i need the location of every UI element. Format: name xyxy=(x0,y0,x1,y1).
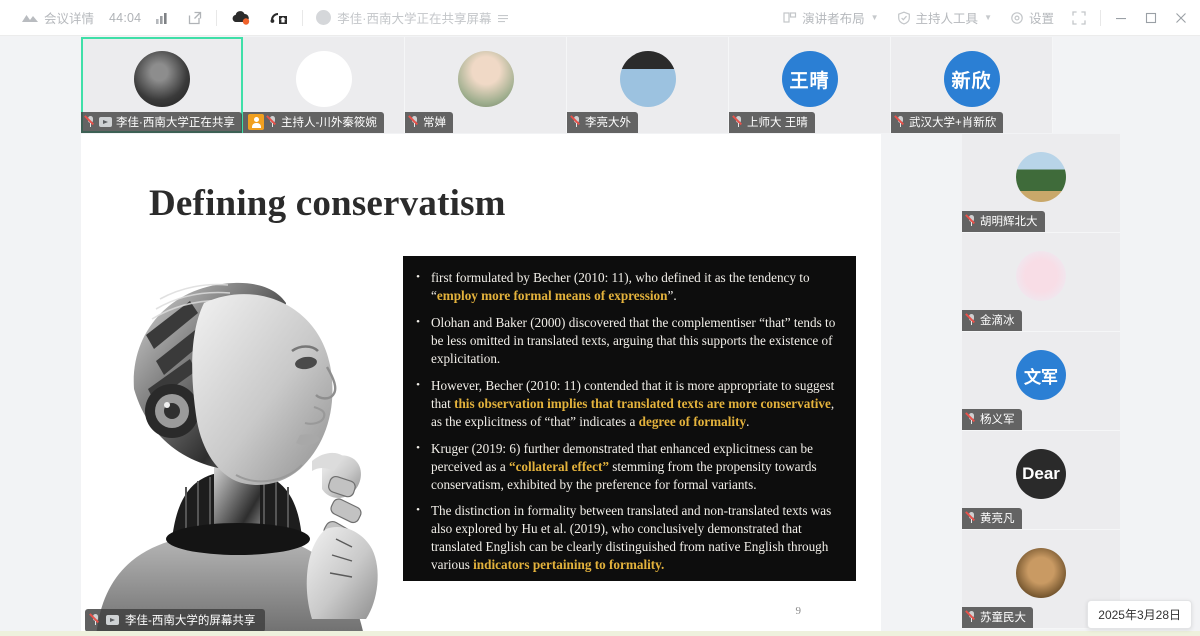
participant-sidebar[interactable]: 胡明辉北大金滴冰文军杨义军Dear黄亮凡苏童民大 xyxy=(962,134,1120,636)
settings-label: 设置 xyxy=(1029,8,1054,27)
bullet-text: However, Becher (2010: 11) contended tha… xyxy=(431,377,842,431)
meeting-window: 会议详情 44:04 xyxy=(0,0,1200,636)
bullet-text: first formulated by Becher (2010: 11), w… xyxy=(431,269,842,305)
participant-name-bar: 黄亮凡 xyxy=(962,508,1022,529)
avatar xyxy=(1016,251,1066,301)
divider xyxy=(216,10,217,26)
screen-share-label-bar: 李佳-西南大学的屏幕共享 xyxy=(85,609,265,632)
microphone-muted-icon xyxy=(967,512,976,524)
microphone-muted-icon xyxy=(734,116,743,128)
highlighted-text: this observation implies that translated… xyxy=(454,396,831,411)
avatar: 新欣 xyxy=(944,51,1000,107)
microphone-muted-icon xyxy=(410,116,419,128)
host-badge-icon xyxy=(248,114,264,130)
network-signal-button[interactable] xyxy=(147,5,179,31)
participant-name-bar: 李亮大外 xyxy=(567,112,638,133)
avatar xyxy=(1016,152,1066,202)
date-tooltip: 2025年3月28日 xyxy=(1087,600,1192,629)
participant-name-bar: 胡明辉北大 xyxy=(962,211,1045,232)
bullet-marker-icon: • xyxy=(413,269,423,305)
bullet-marker-icon: • xyxy=(413,502,423,574)
bullet-text: The distinction in formality between tra… xyxy=(431,502,842,574)
participant-tile[interactable]: Dear黄亮凡 xyxy=(962,431,1120,530)
top-bar: 会议详情 44:04 xyxy=(0,0,1200,36)
avatar xyxy=(296,51,352,107)
chevron-down-icon: ▼ xyxy=(984,13,992,22)
participant-name-bar: 苏童民大 xyxy=(962,607,1033,628)
participant-thumbnail[interactable]: 王晴上师大 王晴 xyxy=(729,37,891,133)
meeting-details-label: 会议详情 xyxy=(44,8,94,27)
audio-shield-icon xyxy=(269,10,288,25)
avatar: 王晴 xyxy=(782,51,838,107)
microphone-muted-icon xyxy=(572,116,581,128)
bullet-item: •Kruger (2019: 6) further demonstrated t… xyxy=(413,440,842,494)
presentation-slide: Defining conservatism xyxy=(81,134,881,636)
popout-window-button[interactable] xyxy=(179,5,211,31)
avatar: Dear xyxy=(1016,449,1066,499)
bullet-text: Olohan and Baker (2000) discovered that … xyxy=(431,314,842,368)
minimize-button[interactable] xyxy=(1106,3,1136,33)
avatar xyxy=(620,51,676,107)
cloud-recording-button[interactable] xyxy=(222,5,260,31)
divider xyxy=(1100,10,1101,26)
body-text: . xyxy=(746,414,749,429)
microphone-muted-icon xyxy=(86,116,95,128)
bullet-item: •The distinction in formality between tr… xyxy=(413,502,842,574)
participant-tile[interactable]: 文军杨义军 xyxy=(962,332,1120,431)
bullet-item: •first formulated by Becher (2010: 11), … xyxy=(413,269,842,305)
shield-icon xyxy=(897,11,911,25)
bullet-marker-icon: • xyxy=(413,377,423,431)
participant-name-label: 李亮大外 xyxy=(585,114,631,130)
participant-name-label: 上师大 王晴 xyxy=(747,114,808,130)
more-menu-icon[interactable] xyxy=(497,12,509,24)
participant-name-label: 杨义军 xyxy=(980,411,1015,427)
body-text: Olohan and Baker (2000) discovered that … xyxy=(431,315,835,366)
meeting-details-button[interactable]: 会议详情 xyxy=(12,5,103,31)
filmstrip-tiles: 李佳·西南大学正在共享主持人-川外秦筱婉常婵李亮大外王晴上师大 王晴新欣武汉大学… xyxy=(81,37,1053,133)
participant-name-label: 李佳·西南大学正在共享 xyxy=(116,114,235,130)
layout-icon xyxy=(783,11,797,24)
participant-name-bar: 上师大 王晴 xyxy=(729,112,815,133)
participant-name-bar: 杨义军 xyxy=(962,409,1022,430)
slide-page-number: 9 xyxy=(796,605,802,617)
maximize-button[interactable] xyxy=(1136,3,1166,33)
microphone-muted-icon xyxy=(896,116,905,128)
top-bar-right-group: 演讲者布局 ▼ 主持人工具 ▼ xyxy=(774,3,1200,33)
filmstrip-left-pad xyxy=(0,37,81,134)
highlighted-text: degree of formality xyxy=(639,414,746,429)
microphone-muted-icon xyxy=(967,413,976,425)
signal-bars-icon xyxy=(156,11,170,24)
fullscreen-icon xyxy=(1072,11,1086,25)
microphone-muted-icon xyxy=(268,116,277,128)
bottom-edge-strip xyxy=(0,631,1200,636)
participant-name-bar: 常婵 xyxy=(405,112,453,133)
participant-name-label: 胡明辉北大 xyxy=(980,213,1038,229)
bullet-item: •Olohan and Baker (2000) discovered that… xyxy=(413,314,842,368)
bullet-list: •first formulated by Becher (2010: 11), … xyxy=(413,269,842,574)
participant-name-label: 黄亮凡 xyxy=(980,510,1015,526)
highlighted-text: indicators pertaining to formality. xyxy=(473,557,664,572)
participant-name-label: 武汉大学+肖新欣 xyxy=(909,114,996,130)
sharing-status-label: 李佳·西南大学正在共享屏幕 xyxy=(337,8,491,27)
cloud-recording-icon xyxy=(231,10,251,25)
microphone-muted-icon xyxy=(967,215,976,227)
divider xyxy=(302,10,303,26)
meeting-timer: 44:04 xyxy=(103,11,147,25)
screen-share-owner-label: 李佳-西南大学的屏幕共享 xyxy=(125,612,255,628)
body-text: ”. xyxy=(668,288,677,303)
top-bar-left-group: 会议详情 44:04 xyxy=(0,5,517,31)
speaker-layout-label: 演讲者布局 xyxy=(802,8,865,27)
bullet-text: Kruger (2019: 6) further demonstrated th… xyxy=(431,440,842,494)
participant-name-label: 主持人-川外秦筱婉 xyxy=(281,114,377,130)
participant-name-label: 苏童民大 xyxy=(980,609,1026,625)
highlighted-text: employ more formal means of expression xyxy=(437,288,668,303)
bullet-marker-icon: • xyxy=(413,314,423,368)
participant-tile[interactable]: 金滴冰 xyxy=(962,233,1120,332)
participant-thumbnail[interactable]: 常婵 xyxy=(405,37,567,133)
participant-name-bar: 李佳·西南大学正在共享 xyxy=(81,112,242,133)
gear-icon xyxy=(1010,11,1024,25)
participant-name-bar: 金滴冰 xyxy=(962,310,1022,331)
participant-name-label: 常婵 xyxy=(423,114,446,130)
microphone-muted-icon xyxy=(967,314,976,326)
thinking-robot-image xyxy=(86,239,391,636)
fullscreen-button[interactable] xyxy=(1063,5,1095,31)
participant-name-bar: 主持人-川外秦筱婉 xyxy=(243,112,384,133)
participant-thumbnail[interactable]: 李佳·西南大学正在共享 xyxy=(81,37,243,133)
highlighted-text: “collateral effect” xyxy=(509,459,609,474)
avatar xyxy=(316,10,331,25)
slide-title: Defining conservatism xyxy=(149,182,506,225)
chevron-down-icon: ▼ xyxy=(871,13,879,22)
stage-left-pad xyxy=(0,134,81,636)
participant-thumbnail[interactable]: 新欣武汉大学+肖新欣 xyxy=(891,37,1053,133)
avatar xyxy=(1016,548,1066,598)
mountain-logo-icon xyxy=(21,11,39,25)
shared-screen-stage[interactable]: Defining conservatism xyxy=(81,134,881,636)
settings-button[interactable]: 设置 xyxy=(1001,5,1063,31)
microphone-muted-icon xyxy=(91,614,100,626)
avatar xyxy=(134,51,190,107)
screen-share-icon xyxy=(106,615,119,625)
host-tools-label: 主持人工具 xyxy=(916,8,979,27)
participant-name-label: 金滴冰 xyxy=(980,312,1015,328)
screen-share-icon xyxy=(99,117,112,127)
participant-filmstrip[interactable]: 李佳·西南大学正在共享主持人-川外秦筱婉常婵李亮大外王晴上师大 王晴新欣武汉大学… xyxy=(0,37,1200,134)
avatar: 文军 xyxy=(1016,350,1066,400)
participant-thumbnail[interactable]: 主持人-川外秦筱婉 xyxy=(243,37,405,133)
bullet-marker-icon: • xyxy=(413,440,423,494)
participant-thumbnail[interactable]: 李亮大外 xyxy=(567,37,729,133)
sharing-status-indicator[interactable]: 李佳·西南大学正在共享屏幕 xyxy=(308,8,517,27)
sidebar-tiles: 胡明辉北大金滴冰文军杨义军Dear黄亮凡苏童民大 xyxy=(962,134,1120,629)
microphone-muted-icon xyxy=(967,611,976,623)
stage-right-pad xyxy=(881,134,962,636)
avatar xyxy=(458,51,514,107)
sidebar-right-pad xyxy=(1120,134,1200,636)
bullet-item: •However, Becher (2010: 11) contended th… xyxy=(413,377,842,431)
host-tools-button[interactable]: 主持人工具 ▼ xyxy=(888,5,1001,31)
audio-settings-button[interactable] xyxy=(260,5,297,31)
speaker-layout-button[interactable]: 演讲者布局 ▼ xyxy=(774,5,887,31)
participant-tile[interactable]: 胡明辉北大 xyxy=(962,134,1120,233)
popout-window-icon xyxy=(188,11,202,25)
participant-name-bar: 武汉大学+肖新欣 xyxy=(891,112,1003,133)
slide-text-box: •first formulated by Becher (2010: 11), … xyxy=(403,256,856,581)
close-button[interactable] xyxy=(1166,3,1196,33)
